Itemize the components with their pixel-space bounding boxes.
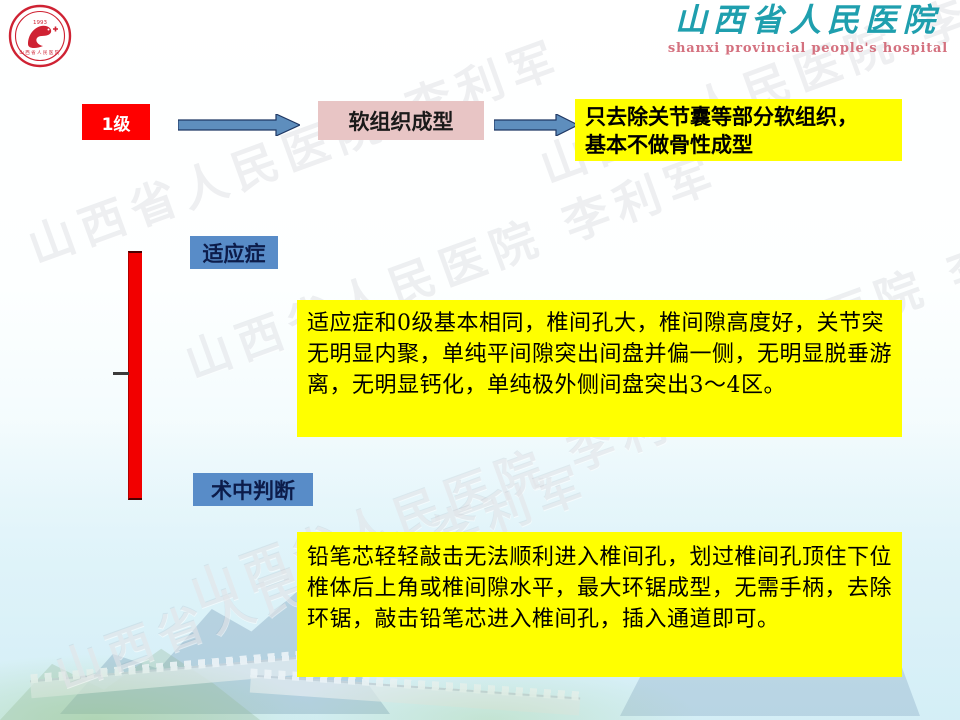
section-body-intraoperative: 铅笔芯轻轻敲击无法顺利进入椎间孔，划过椎间孔顶住下位椎体后上角或椎间隙水平，最大… [297,532,902,677]
svg-text:山西省人民医院: 山西省人民医院 [19,49,60,56]
result-callout-box: 只去除关节囊等部分软组织， 基本不做骨性成型 [575,99,902,161]
mountain-left [0,612,260,720]
hospital-name-cn: 山西省人民医院 [668,4,948,36]
great-wall-segment-center [250,675,580,716]
hospital-name-en: shanxi provincial people's hospital [668,42,948,55]
procedure-chip: 软组织成型 [318,101,484,140]
result-line-2: 基本不做骨性成型 [585,131,894,159]
red-bar-tick-mark [113,372,129,375]
result-line-1: 只去除关节囊等部分软组织， [585,103,894,131]
section-label-indication: 适应症 [190,236,278,269]
hospital-title: 山西省人民医院 shanxi provincial people's hospi… [668,4,948,55]
section-label-intraoperative: 术中判断 [193,473,313,506]
level-chip: 1级 [82,104,150,140]
watermark-text: 山西省人民医院 李利军 [18,22,571,277]
slide-canvas: 山西省人民医院 李利军 山西省人民医院 李利军 山西省人民医院 李利军 山西省人… [0,0,960,720]
section-body-indication: 适应症和0级基本相同，椎间孔大，椎间隙高度好，关节突无明显内聚，单纯平间隙突出间… [297,300,902,437]
foliage-left [0,654,320,720]
red-vertical-bar [128,251,142,500]
arrow-right-icon [494,114,578,136]
hospital-seal-logo: 1993 山西省人民医院 [8,4,72,68]
svg-text:1993: 1993 [33,20,47,26]
arrow-right-icon [178,114,300,136]
